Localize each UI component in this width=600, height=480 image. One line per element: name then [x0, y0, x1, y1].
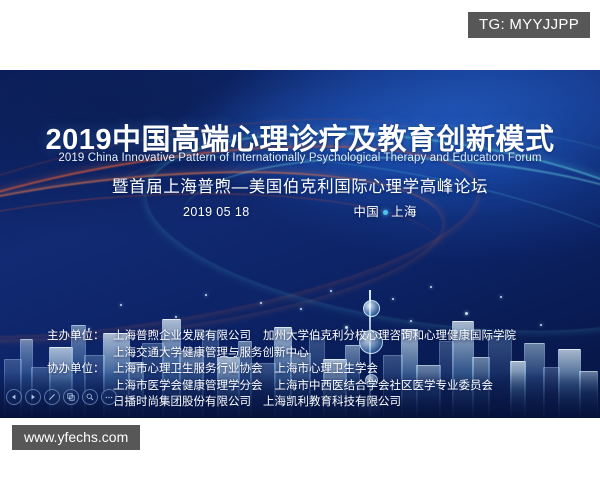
telegram-watermark-badge: TG: MYYJJPP — [468, 12, 590, 38]
background-light-sweep-right — [174, 70, 600, 259]
background-light-sweep-left — [0, 70, 600, 267]
poster-location: 中国上海 — [353, 201, 417, 220]
organizer-name: 上海市医学会健康管理学分会 — [113, 378, 263, 395]
organizer-row: 协办单位： 上海市心理卫生服务行业协会 上海市心理卫生学会 — [47, 361, 516, 378]
organizer-row: 主办单位： 日播时尚集团股份有限公司 上海凯利教育科技有限公司 — [47, 394, 516, 411]
organizer-name: 上海交通大学健康管理与服务创新中心 — [113, 345, 309, 362]
organizer-name: 日播时尚集团股份有限公司 — [113, 394, 251, 411]
edit-pen-icon[interactable] — [44, 389, 60, 405]
image-toolbar[interactable] — [6, 389, 117, 405]
poster-date: 2019 05 18 — [183, 205, 250, 219]
location-dot-icon — [383, 210, 388, 215]
poster-meta-row: 2019 05 18 中国上海 — [0, 201, 600, 220]
organizer-values: 日播时尚集团股份有限公司 上海凯利教育科技有限公司 — [113, 394, 401, 411]
site-url-watermark-badge: www.yfechs.com — [12, 425, 140, 450]
organizer-values: 上海市医学会健康管理学分会 上海市中西医结合学会社区医学专业委员会 — [113, 378, 493, 395]
previous-icon[interactable] — [6, 389, 22, 405]
organizer-values: 上海交通大学健康管理与服务创新中心 — [113, 345, 309, 362]
organizer-row: 主办单位： 上海交通大学健康管理与服务创新中心 — [47, 345, 516, 362]
organizer-row: 主办单位： 上海普煦企业发展有限公司 加州大学伯克利分校心理咨询和心理健康国际学… — [47, 328, 516, 345]
copy-icon[interactable] — [63, 389, 79, 405]
organizer-name: 上海市心理卫生学会 — [275, 361, 379, 378]
organizer-name: 上海凯利教育科技有限公司 — [263, 394, 401, 411]
organizer-row: 主办单位： 上海市医学会健康管理学分会 上海市中西医结合学会社区医学专业委员会 — [47, 378, 516, 395]
organizer-label-host: 主办单位： — [47, 328, 113, 345]
organizer-values: 上海普煦企业发展有限公司 加州大学伯克利分校心理咨询和心理健康国际学院 — [113, 328, 516, 345]
organizer-list: 主办单位： 上海普煦企业发展有限公司 加州大学伯克利分校心理咨询和心理健康国际学… — [47, 328, 516, 411]
organizer-name: 上海市中西医结合学会社区医学专业委员会 — [275, 378, 494, 395]
organizer-name: 上海市心理卫生服务行业协会 — [113, 361, 263, 378]
organizer-name: 加州大学伯克利分校心理咨询和心理健康国际学院 — [263, 328, 516, 345]
poster-location-city: 上海 — [391, 205, 417, 219]
more-icon[interactable] — [101, 389, 117, 405]
organizer-name: 上海普煦企业发展有限公司 — [113, 328, 251, 345]
conference-poster-image: 2019中国高端心理诊疗及教育创新模式 2019 China Innovativ… — [0, 70, 600, 418]
poster-location-country: 中国 — [353, 205, 379, 219]
play-next-icon[interactable] — [25, 389, 41, 405]
poster-english-subtitle: 2019 China Innovative Pattern of Interna… — [0, 152, 600, 164]
organizer-label-coorganizer: 协办单位： — [47, 361, 113, 378]
search-icon[interactable] — [82, 389, 98, 405]
organizer-values: 上海市心理卫生服务行业协会 上海市心理卫生学会 — [113, 361, 378, 378]
poster-secondary-title: 暨首届上海普煦—美国伯克利国际心理学高峰论坛 — [0, 173, 600, 197]
